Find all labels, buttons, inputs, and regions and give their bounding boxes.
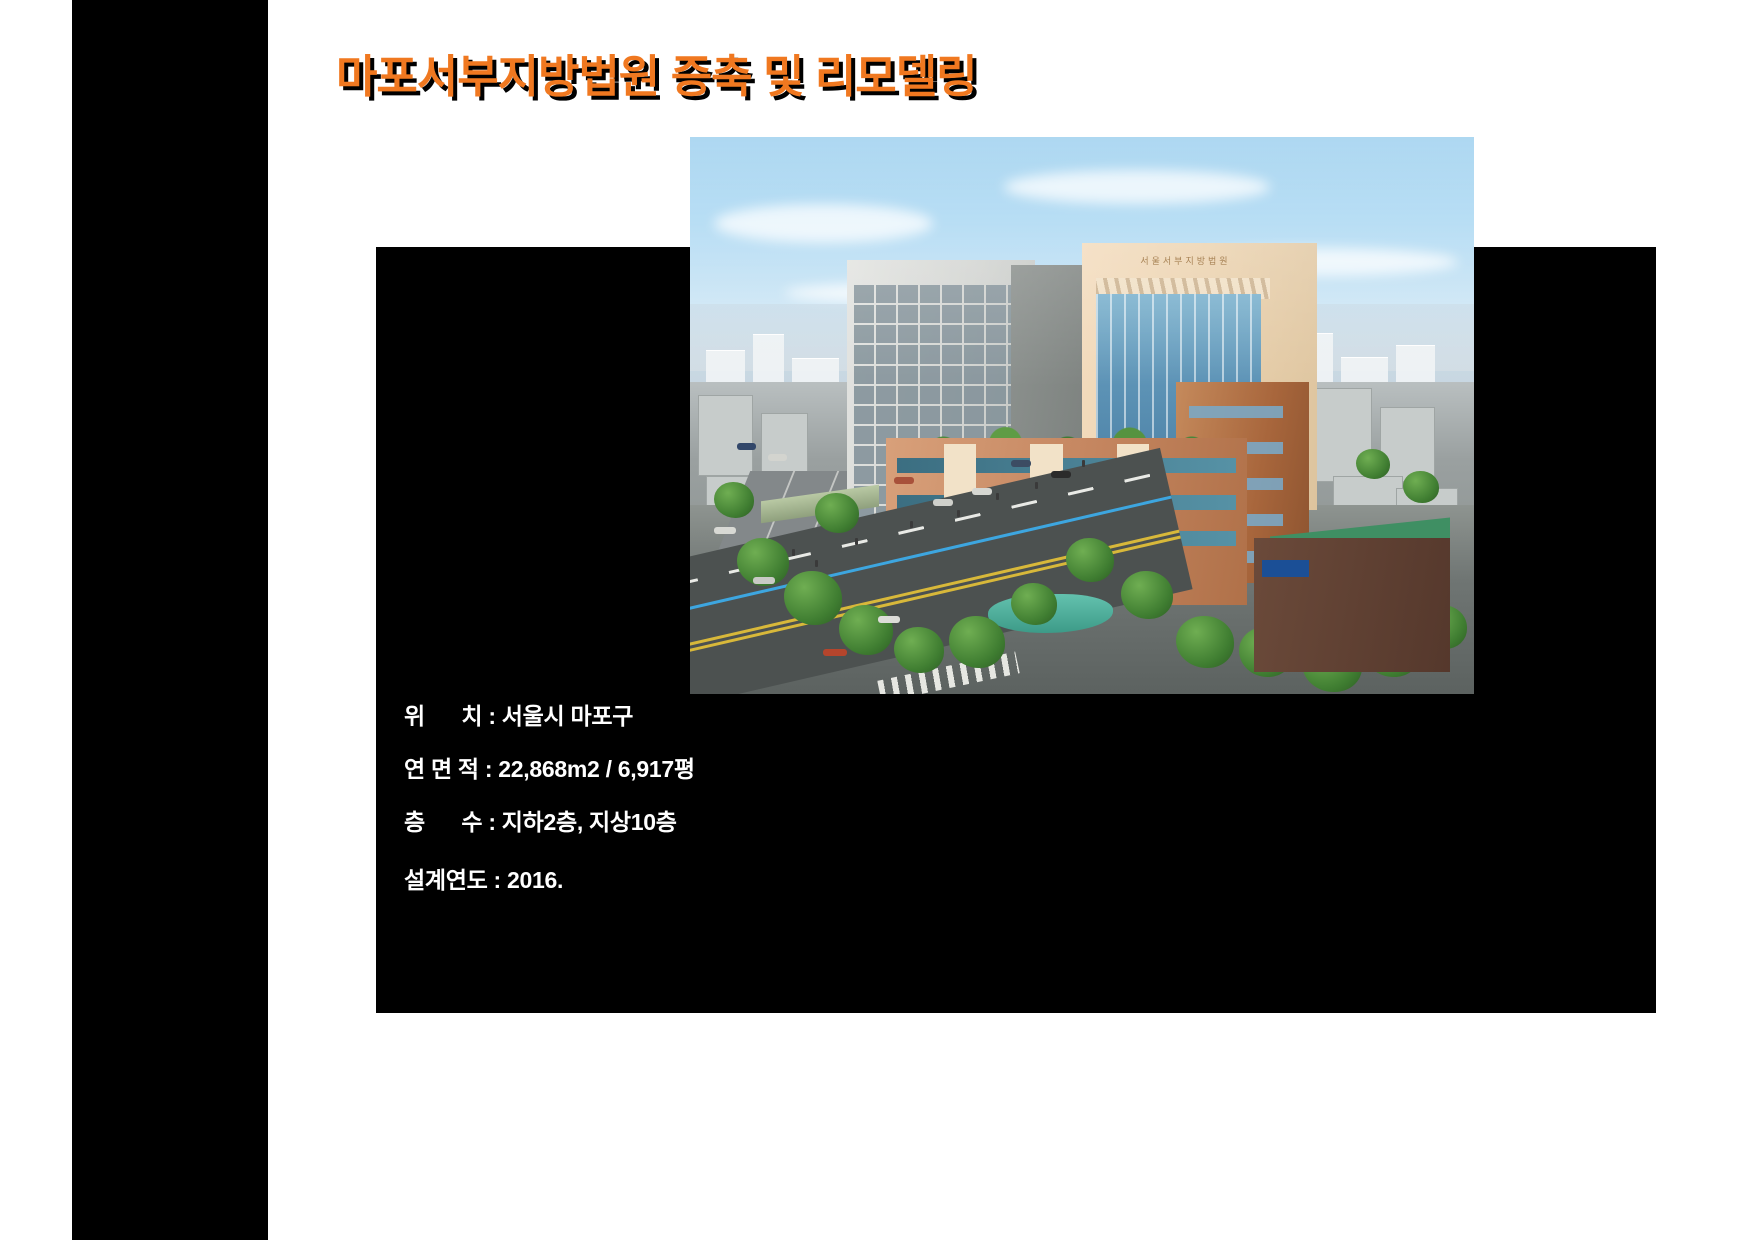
- tree: [949, 616, 1005, 668]
- pedestrian: [1082, 460, 1085, 467]
- pedestrian: [1035, 482, 1038, 489]
- car: [972, 488, 992, 495]
- spec-floors: 층 수 : 지하2층, 지상10층: [404, 803, 1104, 837]
- car: [878, 616, 900, 623]
- pedestrian: [996, 493, 999, 500]
- tree: [1121, 571, 1173, 619]
- car: [894, 477, 914, 484]
- spec-total-area: 연 면 적 : 22,868m2 / 6,917평: [404, 750, 1104, 784]
- tree: [1356, 449, 1390, 479]
- pedestrian: [855, 538, 858, 545]
- tree: [815, 493, 859, 533]
- car: [768, 454, 787, 461]
- rendering-scene: 서울서부지방법원: [690, 137, 1474, 694]
- tree: [839, 605, 893, 655]
- tree: [894, 627, 944, 673]
- cloud: [1004, 170, 1271, 203]
- left-black-band: [72, 0, 268, 1240]
- spec-design-year: 설계연도 : 2016.: [404, 861, 1104, 895]
- pedestrian: [957, 510, 960, 517]
- car: [823, 649, 847, 656]
- building-sign-text: 서울서부지방법원: [1115, 256, 1256, 275]
- pedestrian: [910, 521, 913, 528]
- neighbor-building-sign: [1262, 560, 1309, 577]
- car: [1011, 460, 1031, 467]
- tree: [1403, 471, 1439, 503]
- project-spec-list: 위 치 : 서울시 마포구 연 면 적 : 22,868m2 / 6,917평 …: [404, 697, 1104, 895]
- neighbor-building: [1254, 538, 1450, 672]
- tree: [1176, 616, 1234, 668]
- car: [933, 499, 953, 506]
- cloud: [714, 204, 934, 243]
- tree: [1066, 538, 1114, 582]
- car: [714, 527, 736, 534]
- tree: [1011, 583, 1057, 625]
- page-title: 마포서부지방법원 증축 및 리모델링: [336, 52, 977, 102]
- pedestrian: [792, 549, 795, 556]
- architectural-rendering-image: 서울서부지방법원: [690, 137, 1474, 694]
- car: [737, 443, 756, 450]
- car: [1051, 471, 1071, 478]
- car: [753, 577, 775, 584]
- spec-location: 위 치 : 서울시 마포구: [404, 697, 1104, 731]
